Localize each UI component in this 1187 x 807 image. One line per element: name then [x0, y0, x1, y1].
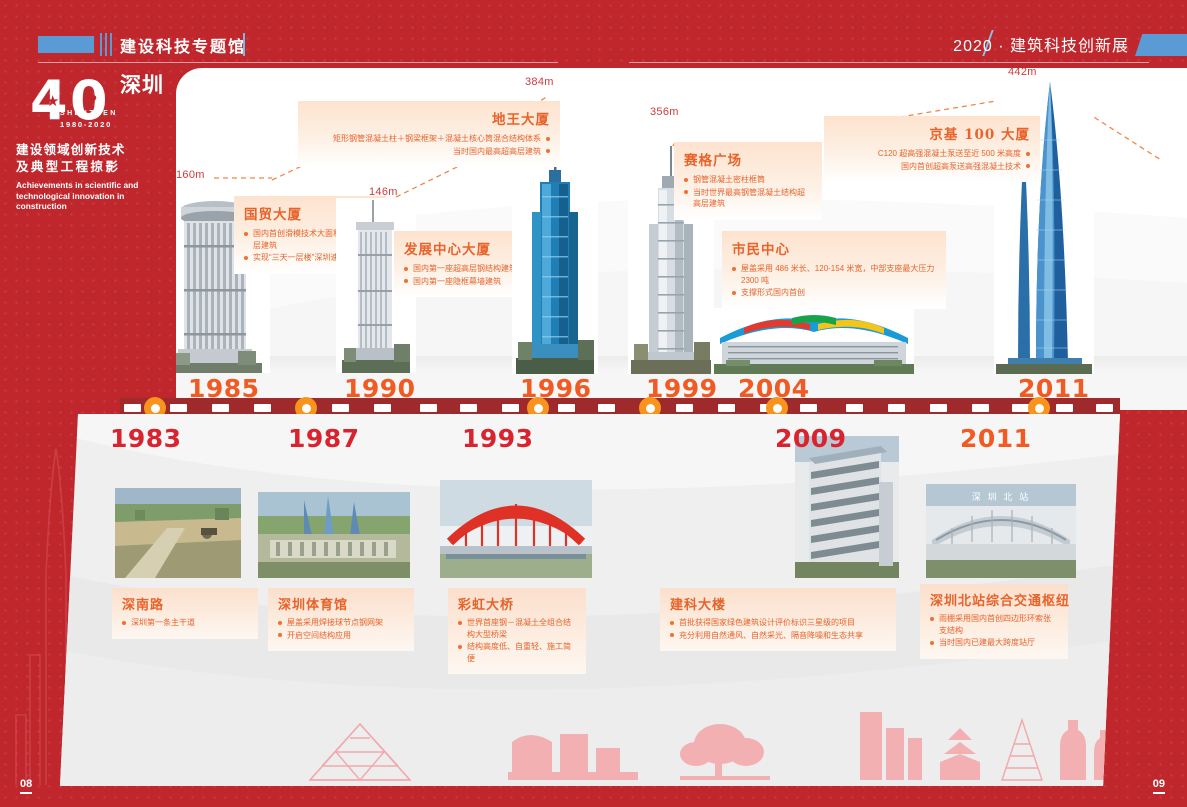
height-label-356m: 356m	[650, 106, 679, 118]
project-year-2009: 2009	[775, 424, 847, 453]
project-bullets-jianke: 首批获得国家绿色建筑设计评价标识三星级的项目 充分利用自然通风、自然采光、隔音降…	[670, 617, 886, 641]
height-label-146m: 146m	[369, 186, 398, 198]
header-blue-tab	[1135, 34, 1187, 56]
page-number-right: 09	[1153, 778, 1165, 794]
bullet: 深圳第一条主干道	[122, 617, 248, 629]
tower-card-civic: 市民中心 屋盖采用 486 米长、120-154 米宽，中部支座最大压力 230…	[722, 231, 946, 309]
photo-rainbow-bridge	[440, 480, 592, 578]
project-year-2011-bottom: 2011	[960, 424, 1032, 453]
photo-sports-hall	[258, 492, 410, 578]
photo-civic-center	[714, 308, 914, 374]
project-year-1993: 1993	[462, 424, 534, 453]
bullet: 当时国内已建最大跨度站厅	[930, 637, 1058, 649]
project-bullets-bridge: 世界首座钢－混凝土全组合结构大型桥梁 结构高度低、自重轻、施工简便	[458, 617, 576, 664]
project-year-1987: 1987	[288, 424, 360, 453]
tower-title-kk100: 京基 100 大厦	[834, 123, 1030, 143]
heart-icon: ♥	[87, 90, 97, 110]
bullet: 屋盖采用 486 米长、120-154 米宽，中部支座最大压力 2300 吨	[732, 263, 936, 286]
logo-caption-en: Achievements in scientific and technolog…	[16, 180, 144, 212]
project-card-jianke: 建科大楼 首批获得国家绿色建筑设计评价标识三星级的项目 充分利用自然通风、自然采…	[660, 588, 896, 651]
project-card-sports: 深圳体育馆 屋盖采用焊接球节点钢网架 开启空间结构应用	[268, 588, 414, 651]
project-card-shennan: 深南路 深圳第一条主干道	[112, 588, 258, 639]
tower-bullets-diwang: 矩形钢管混凝土柱＋钢梁框架＋混凝土核心筒混合结构体系 当时国内最高超高层建筑	[308, 133, 550, 157]
project-bullets-north-station: 雨棚采用国内首创四边形环索张支结构 当时国内已建最大跨度站厅	[930, 613, 1058, 649]
bullet: 结构高度低、自重轻、施工简便	[458, 641, 576, 664]
header-right-title: 2020 · 建筑科技创新展	[953, 32, 1129, 56]
tower-card-diwang: 地王大厦 矩形钢管混凝土柱＋钢梁框架＋混凝土核心筒混合结构体系 当时国内最高超高…	[298, 101, 560, 167]
bullet: 当时世界最高钢管混凝土结构超高层建筑	[684, 187, 812, 210]
bullet: 支撑形式国内首创	[732, 287, 936, 299]
star-icon: ★	[46, 92, 59, 110]
bullet: 国内首创超高泵送高强混凝土技术	[834, 161, 1030, 173]
header-bar-glyph	[100, 33, 112, 56]
towers-panel: 160m 国贸大厦 国内首创滑模技术大面积应用于高层建筑 实现“三天一层楼”深圳…	[176, 68, 1187, 410]
project-title-sports: 深圳体育馆	[278, 594, 404, 613]
bullet: 开启空间结构应用	[278, 630, 404, 642]
photo-shennan-road	[115, 488, 241, 578]
project-card-north-station: 深圳北站综合交通枢纽 雨棚采用国内首创四边形环索张支结构 当时国内已建最大跨度站…	[920, 584, 1068, 659]
bullet: 钢管混凝土密柱框筒	[684, 174, 812, 186]
bullet: C120 超高强混凝土泵送至近 500 米高度	[834, 148, 1030, 160]
project-bullets-shennan: 深圳第一条主干道	[122, 617, 248, 629]
projects-panel: 深南路 深圳第一条主干道	[60, 414, 1120, 786]
tower-card-saige: 赛格广场 钢管混凝土密柱框筒 当时世界最高钢管混凝土结构超高层建筑	[674, 142, 822, 220]
project-title-jianke: 建科大楼	[670, 594, 886, 613]
logo-year-range: 1980-2020	[60, 120, 112, 129]
tower-bullets-kk100: C120 超高强混凝土泵送至近 500 米高度 国内首创超高泵送高强混凝土技术	[834, 148, 1030, 172]
page-header: 建设科技专题馆 2020 · 建筑科技创新展	[0, 0, 1187, 62]
project-card-bridge: 彩虹大桥 世界首座钢－混凝土全组合结构大型桥梁 结构高度低、自重轻、施工简便	[448, 588, 586, 674]
tower-bullets-civic: 屋盖采用 486 米长、120-154 米宽，中部支座最大压力 2300 吨 支…	[732, 263, 936, 299]
bullet: 世界首座钢－混凝土全组合结构大型桥梁	[458, 617, 576, 640]
logo-city-pinyin: SHENZHEN	[60, 110, 118, 117]
header-left-title: 建设科技专题馆	[120, 33, 246, 57]
poster-page: 建设科技专题馆 2020 · 建筑科技创新展 4 0 ★ ♥ 深圳 SHENZH…	[0, 0, 1187, 807]
project-title-shennan: 深南路	[122, 594, 248, 613]
bullet: 当时国内最高超高层建筑	[308, 146, 550, 158]
bullet: 首批获得国家绿色建筑设计评价标识三星级的项目	[670, 617, 886, 629]
tower-title-saige: 赛格广场	[684, 149, 812, 169]
station-sign-text: 深 圳 北 站	[972, 491, 1031, 503]
logo-caption-line1: 建设领域创新技术	[16, 142, 176, 158]
tower-bullets-saige: 钢管混凝土密柱框筒 当时世界最高钢管混凝土结构超高层建筑	[684, 174, 812, 210]
tower-title-diwang: 地王大厦	[308, 108, 550, 128]
bullet: 雨棚采用国内首创四边形环索张支结构	[930, 613, 1058, 636]
tower-title-civic: 市民中心	[732, 238, 936, 258]
project-title-north-station: 深圳北站综合交通枢纽	[930, 590, 1058, 609]
header-tick	[243, 33, 245, 56]
project-bullets-sports: 屋盖采用焊接球节点钢网架 开启空间结构应用	[278, 617, 404, 641]
bullet: 屋盖采用焊接球节点钢网架	[278, 617, 404, 629]
header-rule-left	[38, 62, 558, 63]
bullet: 矩形钢管混凝土柱＋钢梁框架＋混凝土核心筒混合结构体系	[308, 133, 550, 145]
project-title-bridge: 彩虹大桥	[458, 594, 576, 613]
header-rule-right	[629, 62, 1149, 63]
tower-card-kk100: 京基 100 大厦 C120 超高强混凝土泵送至近 500 米高度 国内首创超高…	[824, 116, 1040, 182]
page-number-left: 08	[20, 778, 32, 794]
logo-city-name: 深圳	[120, 74, 164, 96]
logo-40-mark: 4 0 ★ ♥ 深圳 SHENZHEN 1980-2020	[16, 72, 176, 130]
anniversary-logo-block: 4 0 ★ ♥ 深圳 SHENZHEN 1980-2020 建设领域创新技术 及…	[16, 72, 176, 212]
photo-jianke-building	[795, 436, 899, 578]
bottom-silhouette-decoration	[60, 676, 1120, 786]
logo-caption-line2: 及典型工程掠影	[16, 159, 176, 175]
height-label-384m: 384m	[525, 76, 554, 88]
header-blue-block	[38, 36, 94, 53]
height-label-160m: 160m	[176, 169, 205, 181]
bullet: 充分利用自然通风、自然采光、隔音降噪和生态共享	[670, 630, 886, 642]
height-label-442m: 442m	[1008, 68, 1037, 78]
photo-north-station: 深 圳 北 站	[926, 484, 1076, 578]
project-year-1983: 1983	[110, 424, 182, 453]
